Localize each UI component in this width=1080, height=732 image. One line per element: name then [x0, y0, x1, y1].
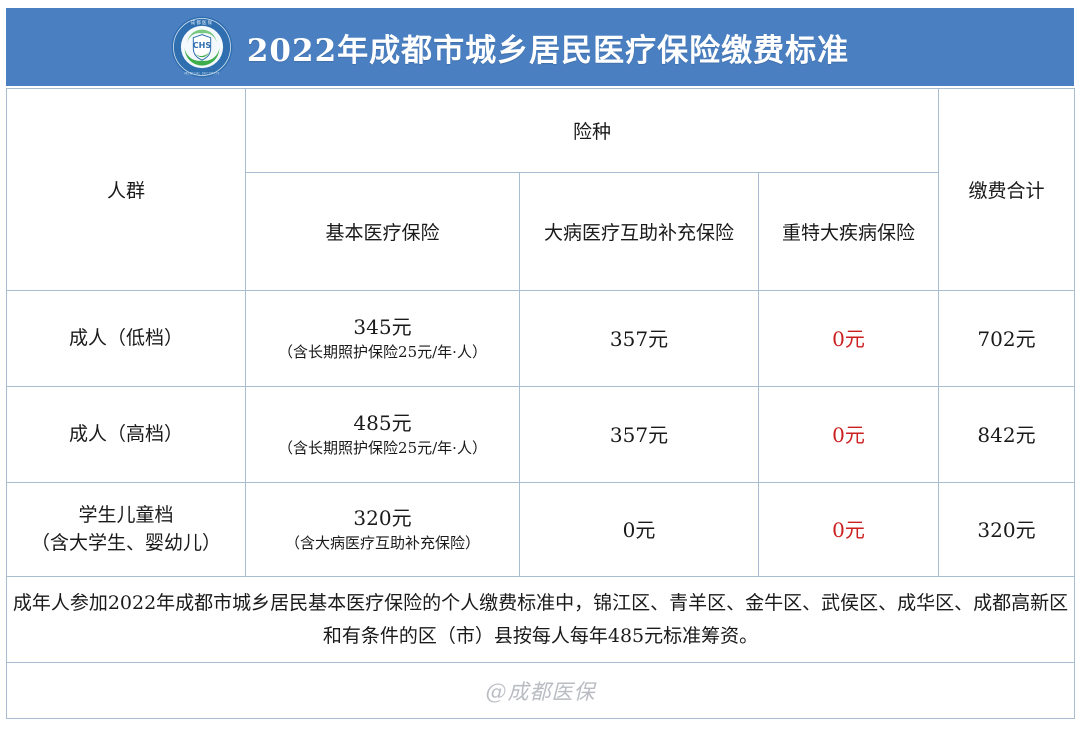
row-group-label: 成人（低档）	[7, 291, 246, 387]
row-total-amount: 702元	[939, 291, 1075, 387]
premium-standard-table-wrapper: 人群 险种 缴费合计 基本医疗保险 大病医疗互助补充保险 重特大疾病保险 成人（…	[6, 88, 1074, 719]
row-major-illness-amount: 357元	[520, 387, 759, 483]
row-critical-illness-amount: 0元	[759, 483, 939, 577]
row-critical-illness-amount: 0元	[759, 387, 939, 483]
row-basic-cell: 345元 （含长期照护保险25元/年·人）	[246, 291, 520, 387]
row-basic-amount: 345元	[353, 315, 411, 339]
row-basic-note: （含大病医疗互助补充保险）	[250, 532, 515, 555]
svg-text:MEDICAL SECURITY: MEDICAL SECURITY	[184, 71, 219, 75]
row-group-label-line1: 学生儿童档	[78, 504, 173, 526]
table-body: 成人（低档） 345元 （含长期照护保险25元/年·人） 357元 0元 702…	[7, 291, 1075, 719]
watermark-cell: @成都医保	[7, 663, 1075, 719]
row-basic-cell: 485元 （含长期照护保险25元/年·人）	[246, 387, 520, 483]
table-footnote-row: 成年人参加2022年成都市城乡居民基本医疗保险的个人缴费标准中，锦江区、青羊区、…	[7, 577, 1075, 663]
table-header-row-top: 人群 险种 缴费合计	[7, 89, 1075, 173]
header-group: 人群	[7, 89, 246, 291]
premium-standard-table: 人群 险种 缴费合计 基本医疗保险 大病医疗互助补充保险 重特大疾病保险 成人（…	[6, 88, 1075, 719]
row-basic-note: （含长期照护保险25元/年·人）	[250, 437, 515, 460]
header-basic-insurance: 基本医疗保险	[246, 173, 520, 291]
row-group-cell: 学生儿童档 （含大学生、婴幼儿）	[7, 483, 246, 577]
header-major-illness-insurance: 大病医疗互助补充保险	[520, 173, 759, 291]
row-basic-amount: 320元	[353, 506, 411, 530]
table-row: 成人（高档） 485元 （含长期照护保险25元/年·人） 357元 0元 842…	[7, 387, 1075, 483]
row-basic-cell: 320元 （含大病医疗互助补充保险）	[246, 483, 520, 577]
header-critical-illness-insurance: 重特大疾病保险	[759, 173, 939, 291]
page-title: 2022年成都市城乡居民医疗保险缴费标准	[247, 25, 849, 70]
row-basic-amount: 485元	[353, 411, 411, 435]
watermark-label: @成都医保	[486, 680, 596, 704]
table-row: 成人（低档） 345元 （含长期照护保险25元/年·人） 357元 0元 702…	[7, 291, 1075, 387]
page-root: CHS 成都医保 MEDICAL SECURITY 2022年成都市城乡居民医疗…	[0, 0, 1080, 732]
table-watermark-row: @成都医保	[7, 663, 1075, 719]
svg-text:CHS: CHS	[193, 41, 212, 50]
header-insurance-type: 险种	[246, 89, 939, 173]
row-group-label: 成人（高档）	[7, 387, 246, 483]
row-major-illness-amount: 357元	[520, 291, 759, 387]
footnote-text: 成年人参加2022年成都市城乡居民基本医疗保险的个人缴费标准中，锦江区、青羊区、…	[7, 577, 1075, 663]
row-group-label-line2: （含大学生、婴幼儿）	[31, 532, 221, 554]
row-total-amount: 842元	[939, 387, 1075, 483]
table-header: 人群 险种 缴费合计 基本医疗保险 大病医疗互助补充保险 重特大疾病保险	[7, 89, 1075, 291]
row-critical-illness-amount: 0元	[759, 291, 939, 387]
row-basic-note: （含长期照护保险25元/年·人）	[250, 341, 515, 364]
row-major-illness-amount: 0元	[520, 483, 759, 577]
chs-medical-insurance-emblem-icon: CHS 成都医保 MEDICAL SECURITY	[171, 16, 233, 78]
table-row: 学生儿童档 （含大学生、婴幼儿） 320元 （含大病医疗互助补充保险） 0元 0…	[7, 483, 1075, 577]
header-total: 缴费合计	[939, 89, 1075, 291]
row-total-amount: 320元	[939, 483, 1075, 577]
title-banner: CHS 成都医保 MEDICAL SECURITY 2022年成都市城乡居民医疗…	[6, 8, 1074, 86]
title-banner-content: CHS 成都医保 MEDICAL SECURITY 2022年成都市城乡居民医疗…	[171, 16, 849, 78]
